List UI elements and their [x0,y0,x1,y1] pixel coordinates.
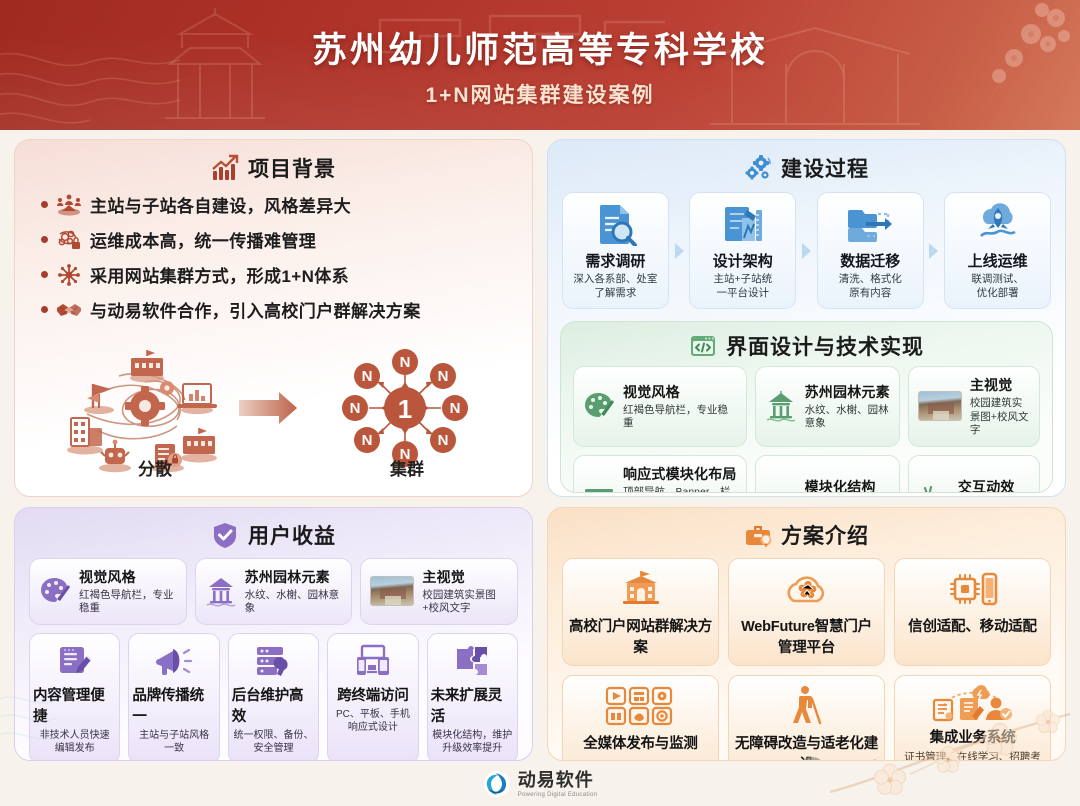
svg-text:N: N [362,432,373,449]
document-search-icon [592,202,638,246]
bullet-dot [41,236,48,243]
card-title: 交互动效 [958,477,1030,493]
design-implementation-header: 界面设计与技术实现 [571,330,1042,362]
user-benefits-title: 用户收益 [248,520,336,550]
design-card-suzhou-garden: 苏州园林元素 水纹、水榭、园林意象 [755,366,900,446]
card-title: 模块化结构 [805,477,890,493]
briefcase-idea-icon [744,521,772,549]
blueprint-icon [720,202,766,246]
svg-text:N: N [400,354,411,371]
solution-tile-icon [947,568,999,610]
bullet-dot [41,306,48,313]
tile-desc: 非技术人员快速 编辑发布 [40,729,110,755]
svg-text:N: N [450,400,461,417]
solution-tile-grid: 高校门户网站群解决方案 WebFuture智慧门户管理平台 [560,556,1053,761]
card-title: 主视觉 [970,375,1030,395]
wechat-watermark: 公众号：动易软件 [800,752,1031,761]
benefits-top-card-grid: 视觉风格 红褐色导航栏，专业稳重 [27,556,520,625]
solution-intro-title: 方案介绍 [781,520,869,550]
cloud-rocket-icon [975,202,1021,246]
cluster-node-icon [56,263,82,287]
school-icon-small [130,350,164,383]
solution-tile-media-publishing: 全媒体发布与监测 [562,675,719,761]
page-title: 苏州幼儿师范高等专科学校 [312,22,768,73]
tile-title: 集成业务系统 [930,726,1016,747]
solution-tile-integrated-systems: 集成业务系统 证书管理、在线学习、招聘考试等 [894,675,1051,761]
diagram-left-label: 分散 [95,455,215,480]
benefit-tile-cross-device: 跨终端访问 PC、平板、手机 响应式设计 [327,633,418,761]
construction-process-title: 建设过程 [781,153,869,183]
school-building-icon [617,569,665,609]
benefit-tile-future-extensibility: 未来扩展灵活 模块化结构，维护 升级效率提升 [427,633,518,761]
solution-intro-header: 方案介绍 [560,518,1053,552]
design-implementation-title: 界面设计与技术实现 [726,331,924,361]
pavilion-icon [765,390,797,422]
solution-tile-icon [786,685,828,727]
card-desc: 校园建筑实景图+校风文字 [422,589,508,616]
transformation-arrow-icon [239,392,297,424]
project-background-title: 项目背景 [248,153,336,183]
user-benefits-header: 用户收益 [27,518,520,552]
brand-name: 动易软件 [518,771,598,789]
brand-logo: 动易软件 Powering Digital Education [483,770,598,798]
solution-tile-icon [617,568,665,610]
cursor-click-icon [918,485,950,493]
process-step-desc: 主站+子站统 一平台设计 [713,273,772,300]
folder-migrate-icon [847,202,893,246]
design-card-modular-structure: 模块化结构 独立功能块，自由插拔调整 [755,455,900,494]
page-footer: 动易软件 Powering Digital Education [0,762,1080,806]
project-background-panel: 项目背景 主站与子站各自建设，风格差异大 [14,139,533,497]
list-item: 运维成本高，统一传播难管理 [41,227,520,252]
card-title: 视觉风格 [623,382,737,402]
project-background-header: 项目背景 [27,150,520,186]
tile-title: 跨终端访问 [337,684,409,705]
solution-tile-icon [604,685,678,727]
multi-device-icon [354,643,392,679]
handshake-icon [56,298,82,322]
list-item-label: 主站与子站各自建设，风格差异大 [90,192,351,217]
swirl-logo-icon [483,770,511,798]
campus-photo-icon [918,391,962,421]
palette-icon [39,575,71,607]
gears-icon [744,154,772,182]
tile-title: 内容管理便捷 [33,684,116,726]
benefit-card-main-visual: 主视觉 校园建筑实景图+校风文字 [360,558,518,625]
card-title: 主视觉 [422,567,508,587]
tile-desc: 模块化结构，维护 升级效率提升 [432,729,512,755]
tile-desc: 主站与子站风格 一致 [139,729,209,755]
benefit-tile-content-management: 内容管理便捷 非技术人员快速 编辑发布 [29,633,120,761]
palette-icon [583,390,615,422]
shield-check-icon [211,521,239,549]
list-item: 采用网站集群方式，形成1+N体系 [41,262,520,287]
code-window-icon [689,332,717,360]
solution-tile-icon [930,685,1016,721]
process-step: 上线运维 联调测试、 优化部署 [944,192,1051,309]
process-step: 需求调研 深入各系部、处室 了解需求 [562,192,669,309]
cluster-group: 1 NNN NN NNN [342,349,468,467]
office-building-icon-small [67,418,103,455]
benefit-tile-brand-consistency: 品牌传播统一 主站与子站风格 一致 [128,633,219,761]
diagram-right-label: 集群 [347,455,467,480]
list-item-label: 运维成本高，统一传播难管理 [90,227,316,252]
svg-text:N: N [438,432,449,449]
process-step-desc: 清洗、格式化 原有内容 [839,273,902,300]
card-title: 苏州园林元素 [245,567,343,587]
process-step-title: 数据迁移 [840,250,900,271]
pavilion-icon [205,575,237,607]
tangled-lock-icon [56,228,82,252]
solution-tile-portal-group: 高校门户网站群解决方案 [562,558,719,666]
bullet-dot [41,201,48,208]
card-desc: 顶部导航→Banner→栏目 →新闻→特色展示→页脚 [623,486,737,494]
list-item-label: 与动易软件合作，引入高校门户群解决方案 [90,297,421,322]
tile-title: 未来扩展灵活 [431,684,514,726]
puzzle-icon [453,643,491,679]
card-title: 苏州园林元素 [805,382,890,402]
background-bullet-list: 主站与子站各自建设，风格差异大 运维成本高，统一传播难管理 [27,190,520,322]
design-card-interaction: 交互动效 渐变、延迟加载、SEO友好 [908,455,1040,494]
cluster-hub-label: 1 [398,394,412,424]
tile-title: 高校门户网站群解决方案 [569,615,712,657]
wechat-icon [800,756,830,761]
svg-text:N: N [350,400,361,417]
process-step-title: 上线运维 [968,250,1028,271]
campus-photo-icon [370,576,414,606]
construction-process-panel: 建设过程 需求调研 深入各系部、处室 了解需求 [547,139,1066,497]
solution-intro-panel: 方案介绍 高校门户网站群解决方案 [547,507,1066,761]
scattered-group [67,350,217,472]
bullet-dot [41,271,48,278]
tile-desc: 统一权限、备份、 安全管理 [233,729,313,755]
card-desc: 水纹、水榭、园林意象 [245,589,343,616]
svg-text:N: N [438,368,449,385]
benefits-tile-grid: 内容管理便捷 非技术人员快速 编辑发布 品牌传播统一 主站与子站风格 一致 [27,625,520,761]
integrated-systems-icon [930,684,1016,722]
tile-title: 信创适配、移动适配 [908,615,1037,636]
solution-tile-webfuture: WebFuture智慧门户管理平台 [728,558,885,666]
card-title: 响应式模块化布局 [623,464,737,484]
list-item: 与动易软件合作，引入高校门户群解决方案 [41,297,520,322]
card-desc: 校园建筑实景图+校风文字 [970,397,1030,437]
scatter-to-cluster-diagram: 1 NNN NN NNN [27,332,520,482]
layout-blocks-icon [583,485,615,493]
page-subtitle: 1+N网站集群建设案例 [425,79,654,109]
laptop-icon-small [177,384,217,414]
process-step-title: 需求调研 [585,250,645,271]
card-desc: 红褐色导航栏，专业稳重 [79,589,177,616]
brand-tagline: Powering Digital Education [518,792,598,798]
process-step: 设计架构 主站+子站统 一平台设计 [689,192,796,309]
megaphone-icon [155,643,193,679]
page-header: 苏州幼儿师范高等专科学校 1+N网站集群建设案例 [0,0,1080,130]
network-people-icon [56,193,82,217]
tile-title: 后台维护高效 [232,684,315,726]
solution-tile-adaptation: 信创适配、移动适配 [894,558,1051,666]
tile-title: WebFuture智慧门户管理平台 [735,615,878,657]
construction-process-header: 建设过程 [560,150,1053,186]
content-board: 项目背景 主站与子站各自建设，风格差异大 [0,130,1080,761]
design-card-responsive-layout: 响应式模块化布局 顶部导航→Banner→栏目 →新闻→特色展示→页脚 [573,455,747,494]
process-step-title: 设计架构 [713,250,773,271]
process-step-desc: 深入各系部、处室 了解需求 [573,273,657,300]
design-card-visual-style: 视觉风格 红褐色导航栏，专业稳重 [573,366,747,446]
chip-mobile-icon [947,569,999,609]
tile-desc: PC、平板、手机 响应式设计 [336,708,410,734]
card-desc: 红褐色导航栏，专业稳重 [623,404,737,431]
watermark-text: 公众号：动易软件 [839,752,1031,761]
list-item-label: 采用网站集群方式，形成1+N体系 [90,262,349,287]
design-card-main-visual: 主视觉 校园建筑实景图+校风文字 [908,366,1040,446]
chevron-right-icon [669,192,690,309]
growth-chart-icon [211,154,239,182]
edit-document-icon [56,643,94,679]
benefit-tile-backend-maintenance: 后台维护高效 统一权限、备份、 安全管理 [228,633,319,761]
list-item: 主站与子站各自建设，风格差异大 [41,192,520,217]
solution-tile-icon [782,568,832,610]
user-benefits-panel: 用户收益 视觉风格 红褐色导航栏，专业稳重 [14,507,533,761]
solution-tile-accessibility: 无障碍改造与适老化建设 [728,675,885,761]
cloud-brain-icon [782,569,832,609]
tile-title: 品牌传播统一 [132,684,215,726]
accessibility-cane-icon [786,685,828,727]
server-wrench-icon [254,643,292,679]
benefit-card-suzhou-garden: 苏州园林元素 水纹、水榭、园林意象 [195,558,353,625]
design-card-grid: 视觉风格 红褐色导航栏，专业稳重 [571,364,1042,493]
media-grid-icon [604,685,678,727]
benefit-card-visual-style: 视觉风格 红褐色导航栏，专业稳重 [29,558,187,625]
design-implementation-panel: 界面设计与技术实现 视觉风格 红褐色导航栏，专业稳重 [560,321,1053,493]
tile-title: 全媒体发布与监测 [583,732,697,753]
modular-bricks-icon [765,485,797,493]
svg-text:N: N [362,368,373,385]
chevron-right-icon [796,192,817,309]
card-desc: 水纹、水榭、园林意象 [805,404,890,431]
chevron-right-icon [924,192,945,309]
process-step-desc: 联调测试、 优化部署 [971,273,1024,300]
process-step-list: 需求调研 深入各系部、处室 了解需求 设计架构 主站+子站统 一平 [560,190,1053,309]
card-title: 视觉风格 [79,567,177,587]
process-step: 数据迁移 清洗、格式化 原有内容 [817,192,924,309]
